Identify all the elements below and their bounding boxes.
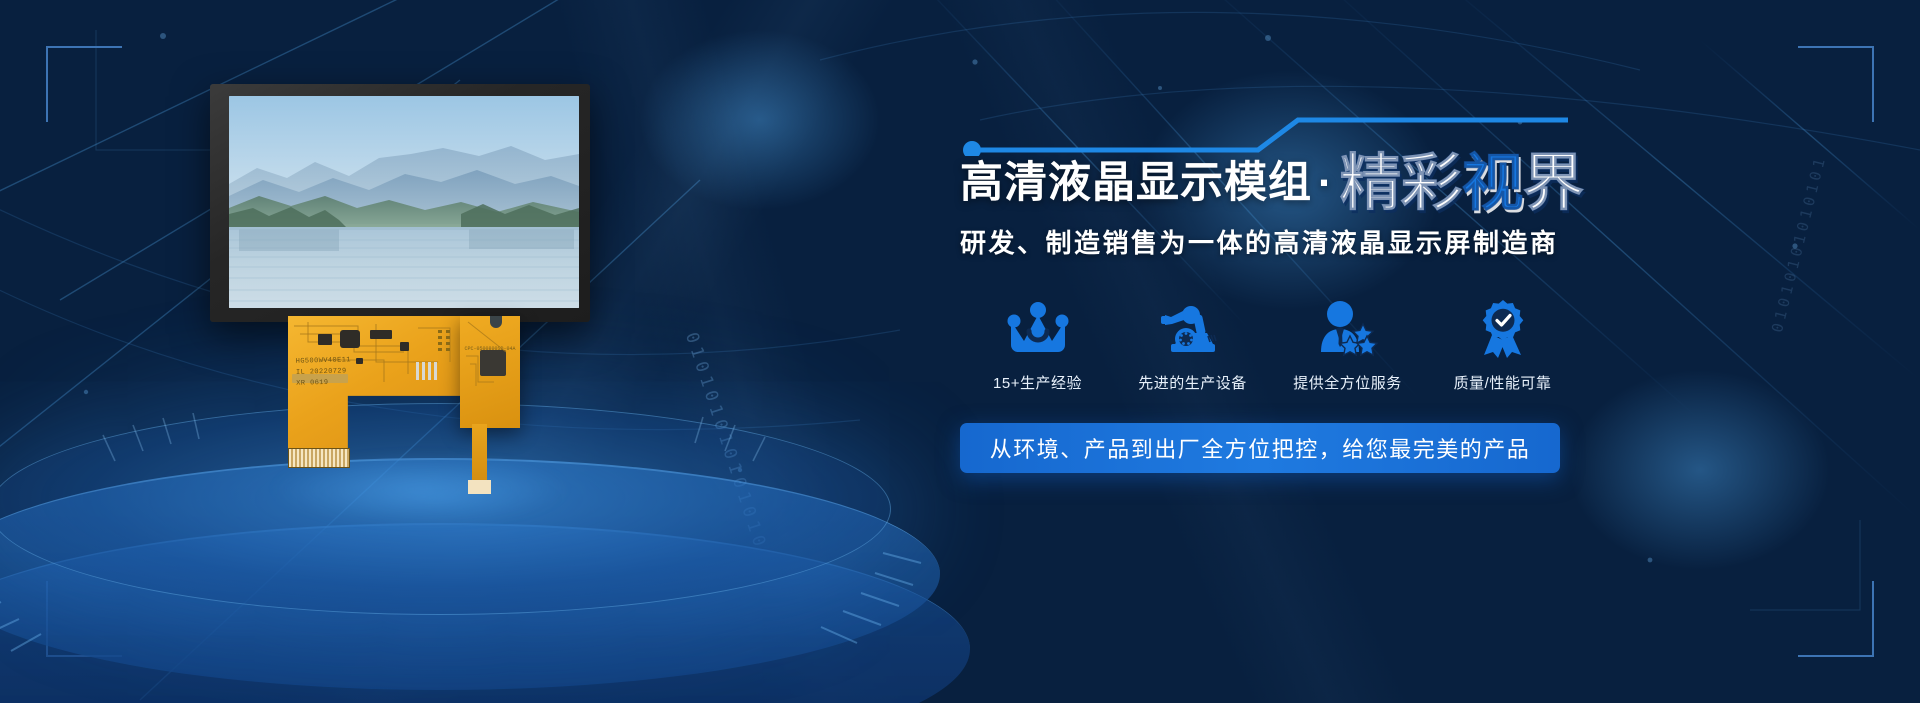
accent-dot	[963, 141, 981, 156]
display-screen	[229, 96, 579, 308]
pcb-side-label: CPC-0500800SD-04A	[462, 346, 518, 352]
cta-text: 从环境、产品到出厂全方位把控，给您最完美的产品	[990, 432, 1531, 464]
feature-label: 先进的生产设备	[1138, 372, 1247, 393]
screen-landscape-image	[229, 96, 579, 308]
display-bezel	[210, 84, 590, 322]
quality-badge-icon	[1474, 298, 1532, 360]
feature-list: 15+生产经验	[960, 298, 1580, 393]
pcb-side-traces	[460, 316, 520, 428]
flex-pcb-tail	[472, 424, 487, 486]
banner-content: 高清液晶显示模组 · 精彩视界 研发、制造销售为一体的高清液晶显示屏制造商	[960, 112, 1580, 473]
feature-label: 15+生产经验	[993, 372, 1082, 393]
lcd-display-module: HG500WV40E11 IL 20220729 XR 0619 CPC-050…	[210, 84, 750, 494]
flex-pcb-tail-connector	[468, 480, 491, 494]
service-person-icon	[1317, 298, 1379, 360]
crown-icon	[1007, 298, 1069, 360]
feature-item-service: 提供全方位服务	[1270, 298, 1425, 393]
brand-char-1: 精	[1339, 146, 1400, 219]
corner-bracket-bottom-right	[1798, 581, 1874, 657]
robot-arm-icon	[1161, 298, 1225, 360]
brand-char-2: 彩	[1400, 146, 1461, 219]
cta-banner[interactable]: 从环境、产品到出厂全方位把控，给您最完美的产品	[960, 423, 1560, 473]
corner-bracket-top-right	[1798, 46, 1874, 122]
corner-bracket-top-left	[46, 46, 122, 122]
page-title: 高清液晶显示模组 · 精彩视界	[960, 156, 1580, 209]
feature-label: 质量/性能可靠	[1454, 372, 1552, 393]
headline-separator: ·	[1312, 162, 1339, 209]
feature-item-experience: 15+生产经验	[960, 298, 1115, 393]
pcb-part-number: HG500WV40E11 IL 20220729 XR 0619	[296, 355, 352, 389]
feature-item-equipment: 先进的生产设备	[1115, 298, 1270, 393]
binary-code-decor-2: 01010101010101	[1768, 153, 1830, 334]
subtitle: 研发、制造销售为一体的高清液晶显示屏制造商	[960, 223, 1580, 260]
flex-pcb-connector	[288, 448, 350, 468]
brand-char-3: 视	[1461, 146, 1522, 219]
feature-label: 提供全方位服务	[1293, 372, 1402, 393]
headline-accent-line	[960, 112, 1568, 156]
brand-name: 精彩视界	[1339, 156, 1583, 209]
headline-plain-text: 高清液晶显示模组	[960, 162, 1312, 209]
feature-item-quality: 质量/性能可靠	[1425, 298, 1580, 393]
promo-banner: 010101010101010 01010101010101	[0, 0, 1920, 703]
brand-char-4: 界	[1522, 146, 1583, 219]
